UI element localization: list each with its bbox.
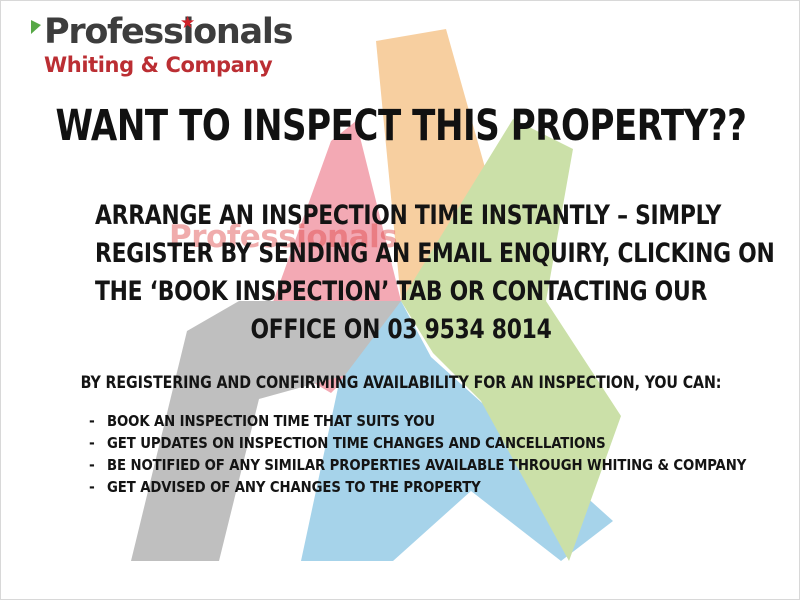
green-flag-icon xyxy=(31,20,41,34)
bullet-marker: - xyxy=(89,454,107,476)
bullet-marker: - xyxy=(89,410,107,432)
poster-canvas: Professionals Professionals ★ Whiting & … xyxy=(0,0,800,600)
body-line-phone: OFFICE ON 03 9534 8014 xyxy=(95,311,707,349)
list-item: - BE NOTIFIED OF ANY SIMILAR PROPERTIES … xyxy=(89,454,769,476)
bullet-marker: - xyxy=(89,476,107,498)
body-line: REGISTER BY SENDING AN EMAIL ENQUIRY, CL… xyxy=(95,235,707,273)
logo-office-name: Whiting & Company xyxy=(31,55,292,76)
bullet-marker: - xyxy=(89,432,107,454)
body-line: THE ‘BOOK INSPECTION’ TAB OR CONTACTING … xyxy=(95,273,707,311)
list-item-label: BOOK AN INSPECTION TIME THAT SUITS YOU xyxy=(107,410,435,432)
list-item: - BOOK AN INSPECTION TIME THAT SUITS YOU xyxy=(89,410,769,432)
poster-content: WANT TO INSPECT THIS PROPERTY?? ARRANGE … xyxy=(1,1,800,600)
list-item-label: GET UPDATES ON INSPECTION TIME CHANGES A… xyxy=(107,432,606,454)
logo-brand-name-text: Professionals xyxy=(44,12,292,52)
page-title: WANT TO INSPECT THIS PROPERTY?? xyxy=(49,101,753,151)
list-item: - GET UPDATES ON INSPECTION TIME CHANGES… xyxy=(89,432,769,454)
benefits-subheading: BY REGISTERING AND CONFIRMING AVAILABILI… xyxy=(29,373,773,393)
benefits-list: - BOOK AN INSPECTION TIME THAT SUITS YOU… xyxy=(89,410,769,498)
logo-brand-name: Professionals ★ xyxy=(31,15,292,50)
star-icon: ★ xyxy=(180,15,194,32)
body-paragraph: ARRANGE AN INSPECTION TIME INSTANTLY – S… xyxy=(61,197,741,349)
list-item-label: BE NOTIFIED OF ANY SIMILAR PROPERTIES AV… xyxy=(107,454,746,476)
body-line: ARRANGE AN INSPECTION TIME INSTANTLY – S… xyxy=(95,197,707,235)
list-item: - GET ADVISED OF ANY CHANGES TO THE PROP… xyxy=(89,476,769,498)
list-item-label: GET ADVISED OF ANY CHANGES TO THE PROPER… xyxy=(107,476,481,498)
brand-logo: Professionals ★ Whiting & Company xyxy=(31,15,292,76)
